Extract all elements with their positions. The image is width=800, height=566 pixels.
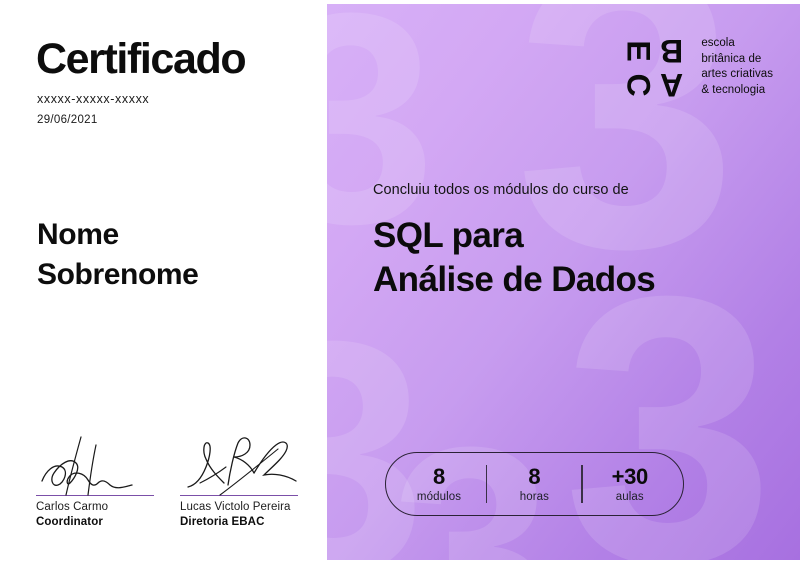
certificate-left-panel: Certificado xxxxx-xxxxx-xxxxx 29/06/2021… — [0, 0, 327, 566]
course-title-line-2: Análise de Dados — [373, 258, 773, 302]
logo-text-line: britânica de — [701, 52, 773, 68]
certificate-date: 29/06/2021 — [37, 114, 98, 126]
stat-value: 8 — [413, 465, 465, 488]
logo-letter-c: C — [622, 69, 656, 102]
page-title: Certificado — [36, 38, 245, 81]
course-title: SQL para Análise de Dados — [373, 214, 773, 302]
handwritten-signature-icon — [36, 431, 154, 493]
recipient-first-name: Nome — [37, 215, 198, 255]
ebac-logo: E B C A escola britânica de artes criati… — [622, 34, 773, 102]
certificate-code: xxxxx-xxxxx-xxxxx — [37, 92, 149, 106]
logo-letter-a: A — [655, 68, 688, 102]
signature-area: Carlos Carmo Coordinator Lucas Victolo P… — [36, 431, 298, 528]
stat-value: +30 — [604, 465, 656, 488]
logo-text-line: & tecnologia — [701, 83, 773, 99]
course-block: Concluiu todos os módulos do curso de SQ… — [373, 182, 773, 302]
logo-text-line: artes criativas — [701, 67, 773, 83]
handwritten-signature-icon — [180, 431, 298, 493]
course-title-line-1: SQL para — [373, 214, 773, 258]
signatory-name: Carlos Carmo — [36, 501, 154, 513]
stat-label: módulos — [413, 491, 465, 503]
signature-block-coordinator: Carlos Carmo Coordinator — [36, 431, 154, 528]
certificate-page: Certificado xxxxx-xxxxx-xxxxx 29/06/2021… — [0, 0, 800, 566]
stat-hours: 8 horas — [487, 465, 581, 502]
signatory-name: Lucas Victolo Pereira — [180, 501, 298, 513]
course-preamble: Concluiu todos os módulos do curso de — [373, 182, 773, 198]
signature-block-director: Lucas Victolo Pereira Diretoria EBAC — [180, 431, 298, 528]
stat-lessons: +30 aulas — [583, 465, 677, 502]
signatory-role: Diretoria EBAC — [180, 516, 298, 528]
stat-modules: 8 módulos — [392, 465, 486, 502]
certificate-right-panel: 3 3 3 3 3 E B C A escola britânica de ar… — [327, 4, 800, 560]
logo-letter-b: B — [655, 34, 688, 68]
ebac-logo-mark-icon: E B C A — [622, 34, 688, 102]
logo-letter-e: E — [622, 35, 656, 68]
recipient-last-name: Sobrenome — [37, 255, 198, 295]
ebac-logo-text: escola britânica de artes criativas & te… — [701, 34, 773, 99]
course-stats-pill: 8 módulos 8 horas +30 aulas — [385, 452, 684, 516]
logo-text-line: escola — [701, 36, 773, 52]
signatory-role: Coordinator — [36, 516, 154, 528]
recipient-name: Nome Sobrenome — [37, 215, 198, 295]
stat-label: horas — [508, 491, 560, 503]
stat-label: aulas — [604, 491, 656, 503]
watermark-glyph: 3 — [327, 292, 427, 560]
stat-value: 8 — [508, 465, 560, 488]
